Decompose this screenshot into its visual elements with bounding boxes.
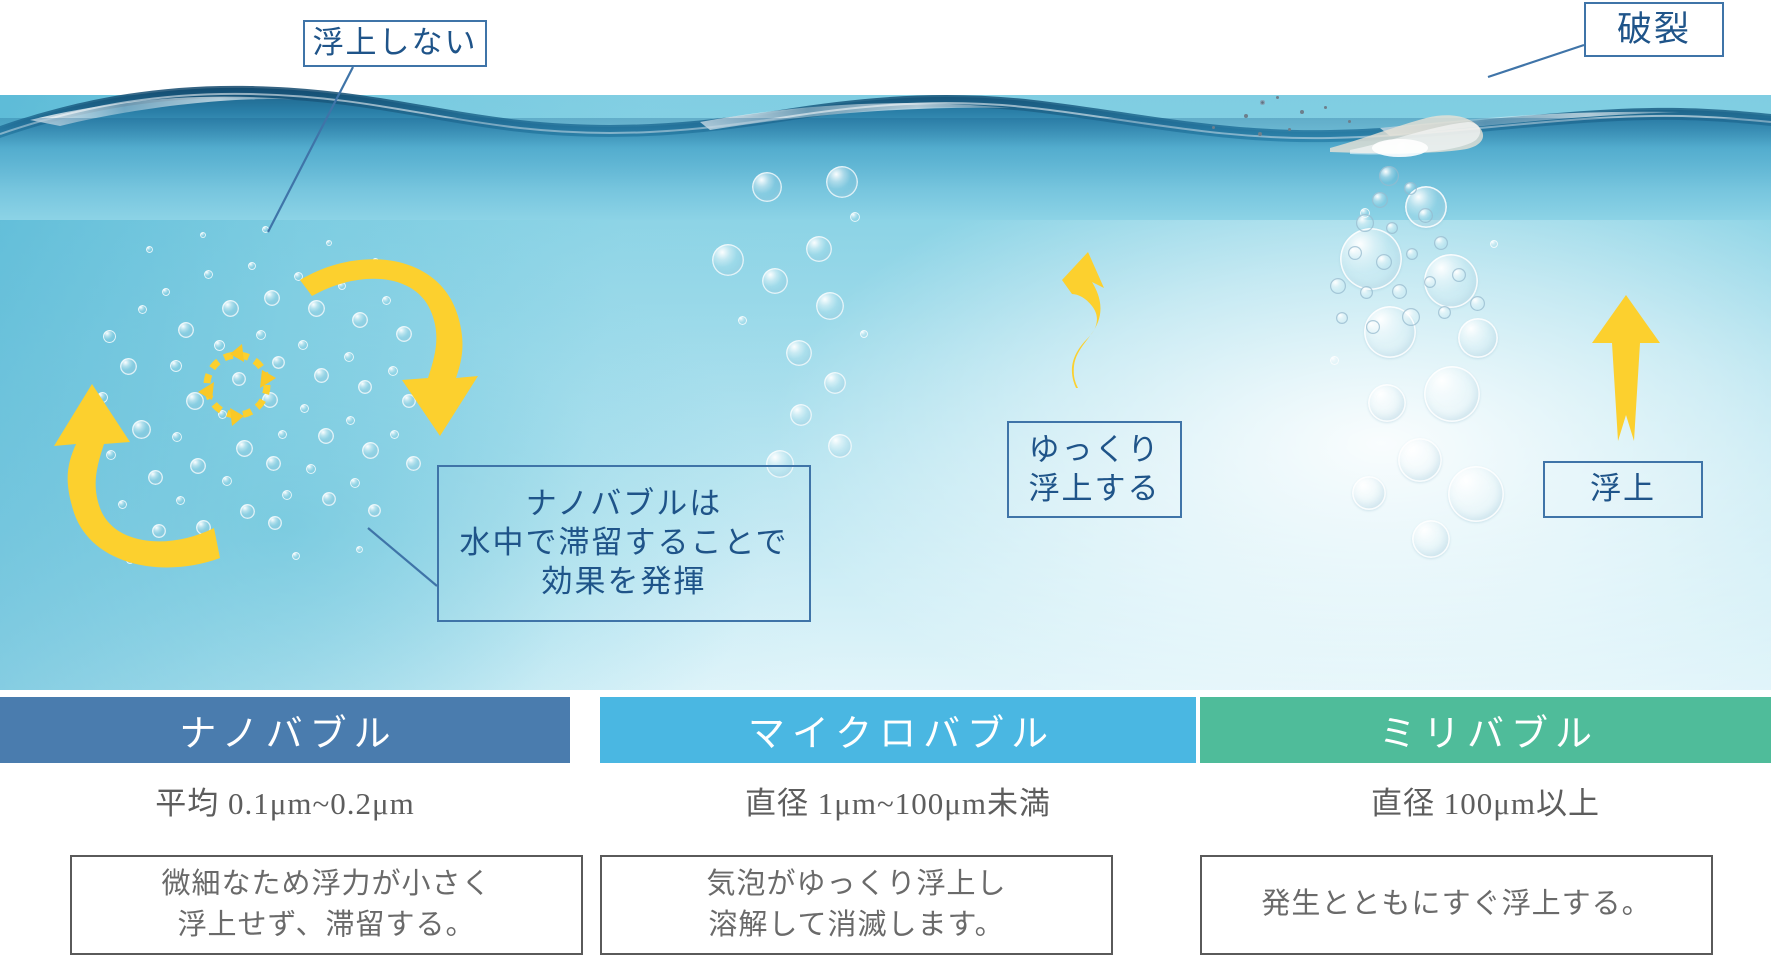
arrow-slow-rise: [1048, 250, 1114, 390]
infographic-root: 浮上しない 破裂 ナノバブルは 水中で滞留することで 効果を発揮 ゆっくり 浮上…: [0, 0, 1771, 960]
legend-header-milli: ミリバブル: [1200, 697, 1771, 763]
legend-size-micro: 直径 1μm~100μm未満: [600, 778, 1196, 823]
arrow-retention-loop: [192, 340, 282, 430]
bubble-type-legend: ナノバブル 平均 0.1μm~0.2μm 微細なため浮力が小さく 浮上せず、滞留…: [0, 690, 1771, 960]
callout-slow-rise: ゆっくり 浮上する: [1007, 421, 1182, 518]
callout-rise: 浮上: [1543, 461, 1703, 518]
callout-burst: 破裂: [1584, 2, 1724, 57]
legend-header-nano: ナノバブル: [0, 697, 570, 763]
legend-description-milli: 発生とともにすぐ浮上する。: [1200, 855, 1713, 955]
arrow-rise: [1590, 295, 1662, 443]
legend-header-micro: マイクロバブル: [600, 697, 1196, 763]
legend-size-milli: 直径 100μm以上: [1200, 778, 1771, 823]
legend-description-micro: 気泡がゆっくり浮上し 溶解して消滅します。: [600, 855, 1113, 955]
callout-no-float: 浮上しない: [303, 20, 487, 67]
legend-description-nano: 微細なため浮力が小さく 浮上せず、滞留する。: [70, 855, 583, 955]
arrow-circulate-right: [290, 250, 480, 450]
callout-nano-retention: ナノバブルは 水中で滞留することで 効果を発揮: [437, 465, 811, 622]
water-illustration: 浮上しない 破裂 ナノバブルは 水中で滞留することで 効果を発揮 ゆっくり 浮上…: [0, 0, 1771, 690]
splash-crown: [1330, 100, 1550, 160]
legend-size-nano: 平均 0.1μm~0.2μm: [0, 778, 570, 823]
